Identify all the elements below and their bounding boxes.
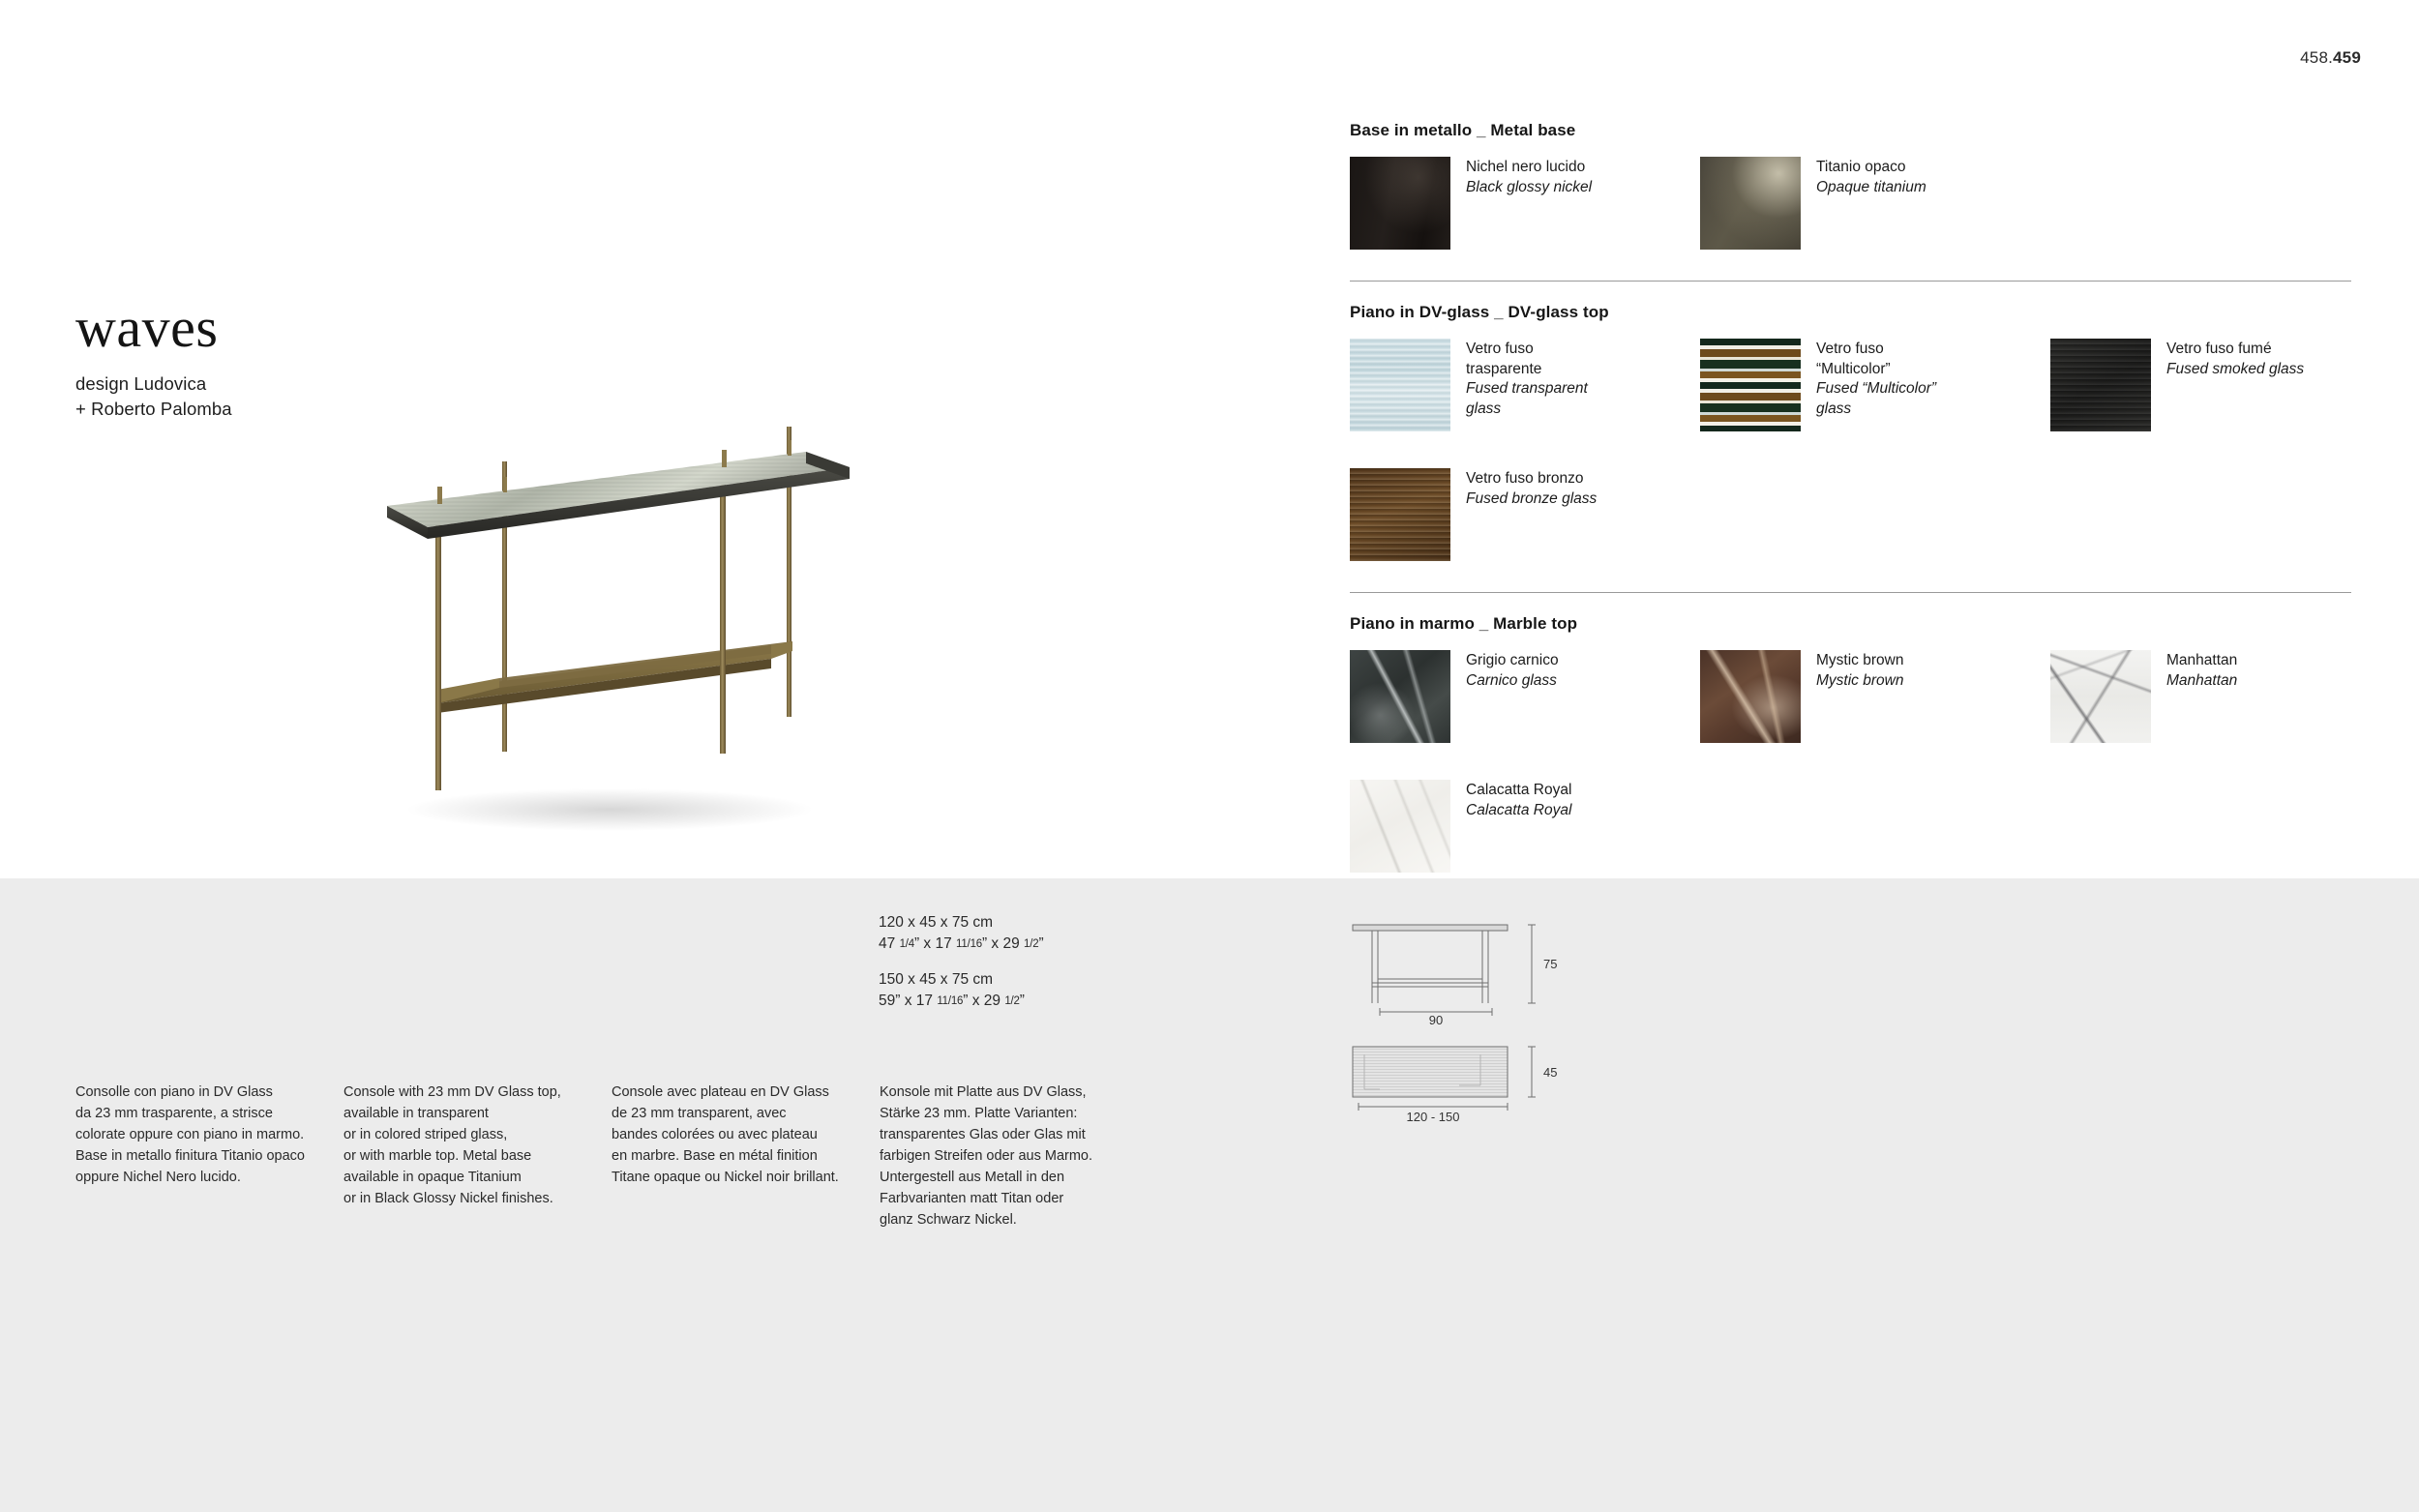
finish-name-en: Manhattan <box>2166 671 2237 692</box>
finish-section-marble: Piano in marmo _ Marble top Grigio carni… <box>1350 592 2351 873</box>
section-heading-dv-glass: Piano in DV-glass _ DV-glass top <box>1350 303 2351 322</box>
dimension-label-plan-width: 120 - 150 <box>1407 1110 1460 1124</box>
designer-line-1: design Ludovica <box>75 371 232 397</box>
finish-name-en: Fused transparent glass <box>1466 379 1588 419</box>
technical-drawings: 75 90 <box>1345 909 1664 1136</box>
swatch-fused-multicolor-glass <box>1700 339 1801 431</box>
description-german: Konsole mit Platte aus DV Glass, Stärke … <box>880 1082 1148 1230</box>
dimension-metric: 150 x 45 x 75 cm <box>879 969 1044 991</box>
finish-name-en: Fused smoked glass <box>2166 360 2304 380</box>
dimension-label-depth: 45 <box>1543 1065 1557 1080</box>
dimension-entry: 150 x 45 x 75 cm 59” x 17 11/16” x 29 1/… <box>879 969 1044 1013</box>
title-block: waves design Ludovica + Roberto Palomba <box>75 300 232 423</box>
swatch-row: Vetro fuso bronzo Fused bronze glass <box>1350 468 2351 561</box>
section-divider <box>1350 281 2351 282</box>
description-text: Console with 23 mm DV Glass top, availab… <box>343 1082 584 1209</box>
finish-section-dv-glass: Piano in DV-glass _ DV-glass top Vetro f… <box>1350 281 2351 561</box>
finish-name-en: Opaque titanium <box>1816 178 1926 198</box>
section-heading-metal-base: Base in metallo _ Metal base <box>1350 121 2351 140</box>
finish-section-metal-base: Base in metallo _ Metal base Nichel nero… <box>1350 121 2351 250</box>
swatch-fused-smoked-glass <box>2050 339 2151 431</box>
dimension-label-width: 90 <box>1429 1013 1443 1025</box>
finish-item[interactable]: Manhattan Manhattan <box>2050 650 2237 743</box>
finish-label: Mystic brown Mystic brown <box>1816 650 1903 743</box>
dimensions-list: 120 x 45 x 75 cm 47 1/4” x 17 11/16” x 2… <box>879 912 1044 1013</box>
finish-name-it: Titanio opaco <box>1816 158 1926 178</box>
description-french: Console avec plateau en DV Glass de 23 m… <box>612 1082 880 1230</box>
finish-item[interactable]: Mystic brown Mystic brown <box>1700 650 2050 743</box>
finish-name-en: Carnico glass <box>1466 671 1559 692</box>
swatch-black-glossy-nickel <box>1350 157 1450 250</box>
description-text: Console avec plateau en DV Glass de 23 m… <box>612 1082 852 1188</box>
dimension-imperial: 59” x 17 11/16” x 29 1/2” <box>879 991 1044 1012</box>
finish-name-it: Grigio carnico <box>1466 651 1559 671</box>
finish-label: Vetro fuso trasparente Fused transparent… <box>1466 339 1588 431</box>
finish-label: Manhattan Manhattan <box>2166 650 2237 743</box>
finish-name-it: Vetro fuso “Multicolor” <box>1816 340 1936 379</box>
section-divider <box>1350 592 2351 593</box>
finishes-panel: Base in metallo _ Metal base Nichel nero… <box>1350 121 2351 873</box>
finish-label: Vetro fuso “Multicolor” Fused “Multicolo… <box>1816 339 1936 431</box>
finish-name-en: Black glossy nickel <box>1466 178 1592 198</box>
finish-item[interactable]: Vetro fuso fumé Fused smoked glass <box>2050 339 2304 431</box>
finish-name-it: Vetro fuso bronzo <box>1466 469 1597 489</box>
finish-name-en: Fused “Multicolor” glass <box>1816 379 1936 419</box>
finish-name-en: Calacatta Royal <box>1466 801 1571 821</box>
finish-name-it: Nichel nero lucido <box>1466 158 1592 178</box>
page-title: waves <box>75 300 232 356</box>
finish-name-en: Mystic brown <box>1816 671 1903 692</box>
finish-label: Vetro fuso bronzo Fused bronze glass <box>1466 468 1597 561</box>
finish-item[interactable]: Nichel nero lucido Black glossy nickel <box>1350 157 1700 250</box>
swatch-row: Vetro fuso trasparente Fused transparent… <box>1350 339 2351 431</box>
dimension-imperial: 47 1/4” x 17 11/16” x 29 1/2” <box>879 934 1044 955</box>
page-number-current: 459 <box>2333 48 2361 67</box>
finish-name-it: Vetro fuso trasparente <box>1466 340 1588 379</box>
finish-label: Grigio carnico Carnico glass <box>1466 650 1559 743</box>
finish-name-it: Manhattan <box>2166 651 2237 671</box>
finish-item[interactable]: Calacatta Royal Calacatta Royal <box>1350 780 1700 873</box>
section-heading-marble: Piano in marmo _ Marble top <box>1350 614 2351 634</box>
description-columns: Consolle con piano in DV Glass da 23 mm … <box>75 1082 1148 1230</box>
technical-drawing-plan-view: 45 120 - 150 <box>1345 1039 1664 1136</box>
finish-item[interactable]: Titanio opaco Opaque titanium <box>1700 157 2050 250</box>
description-italian: Consolle con piano in DV Glass da 23 mm … <box>75 1082 343 1230</box>
swatch-row: Calacatta Royal Calacatta Royal <box>1350 780 2351 873</box>
description-text: Consolle con piano in DV Glass da 23 mm … <box>75 1082 316 1188</box>
dimension-entry: 120 x 45 x 75 cm 47 1/4” x 17 11/16” x 2… <box>879 912 1044 956</box>
finish-item[interactable]: Grigio carnico Carnico glass <box>1350 650 1700 743</box>
finish-label: Titanio opaco Opaque titanium <box>1816 157 1926 250</box>
designer-line-2: + Roberto Palomba <box>75 397 232 422</box>
finish-item[interactable]: Vetro fuso “Multicolor” Fused “Multicolo… <box>1700 339 2050 431</box>
swatch-opaque-titanium <box>1700 157 1801 250</box>
finish-label: Nichel nero lucido Black glossy nickel <box>1466 157 1592 250</box>
swatch-calacatta-royal <box>1350 780 1450 873</box>
designer-credit: design Ludovica + Roberto Palomba <box>75 371 232 423</box>
finish-name-it: Calacatta Royal <box>1466 781 1571 801</box>
swatch-fused-bronze-glass <box>1350 468 1450 561</box>
swatch-grigio-carnico <box>1350 650 1450 743</box>
technical-drawing-front-elevation: 75 90 <box>1345 909 1664 1025</box>
swatch-row: Nichel nero lucido Black glossy nickel T… <box>1350 157 2351 250</box>
description-text: Konsole mit Platte aus DV Glass, Stärke … <box>880 1082 1120 1230</box>
catalog-page: 458.459 waves design Ludovica + Roberto … <box>0 0 2419 1512</box>
swatch-fused-transparent-glass <box>1350 339 1450 431</box>
finish-name-en: Fused bronze glass <box>1466 489 1597 510</box>
dimension-label-height: 75 <box>1543 957 1557 971</box>
finish-name-it: Vetro fuso fumé <box>2166 340 2304 360</box>
finish-name-it: Mystic brown <box>1816 651 1903 671</box>
finish-label: Calacatta Royal Calacatta Royal <box>1466 780 1571 873</box>
dimension-metric: 120 x 45 x 75 cm <box>879 912 1044 934</box>
swatch-row: Grigio carnico Carnico glass Mystic brow… <box>1350 650 2351 743</box>
finish-item[interactable]: Vetro fuso trasparente Fused transparent… <box>1350 339 1700 431</box>
product-photo <box>290 392 968 846</box>
finish-label: Vetro fuso fumé Fused smoked glass <box>2166 339 2304 431</box>
page-number-prefix: 458. <box>2300 48 2333 67</box>
swatch-manhattan <box>2050 650 2151 743</box>
finish-item[interactable]: Vetro fuso bronzo Fused bronze glass <box>1350 468 1700 561</box>
description-english: Console with 23 mm DV Glass top, availab… <box>343 1082 612 1230</box>
page-number: 458.459 <box>2300 48 2361 68</box>
swatch-mystic-brown <box>1700 650 1801 743</box>
